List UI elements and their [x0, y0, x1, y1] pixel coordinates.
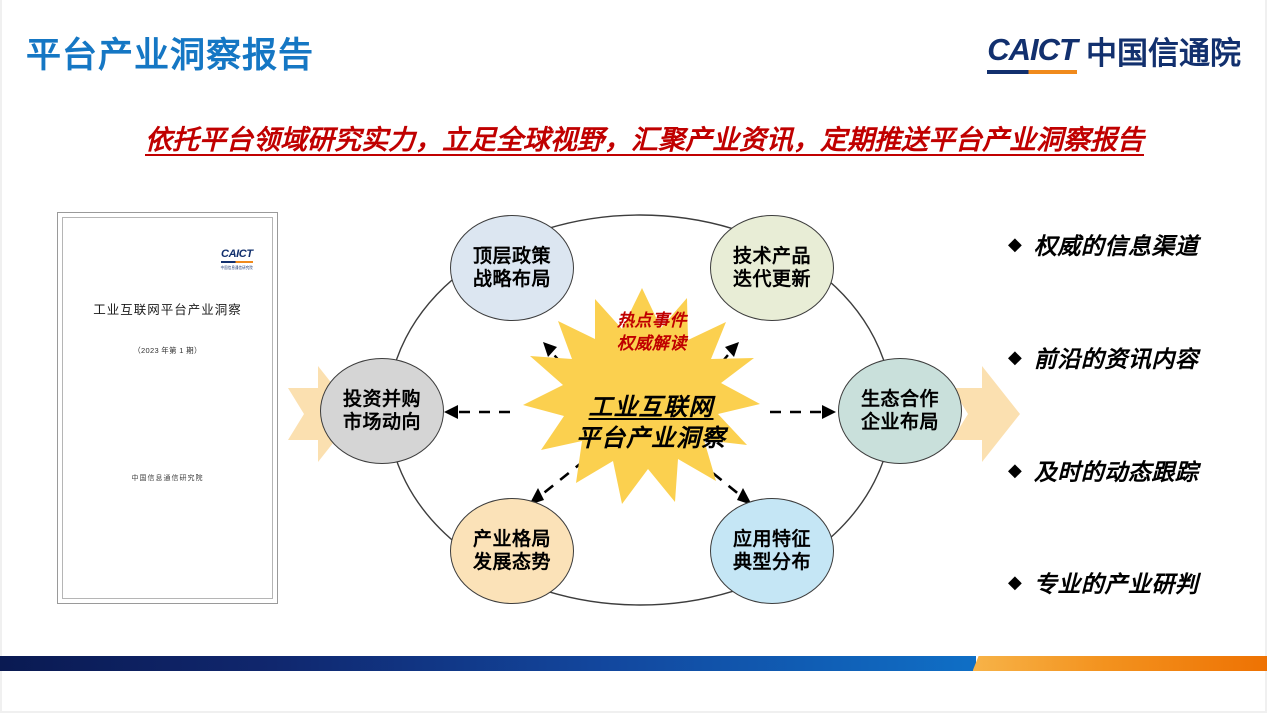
benefit-item-2: ◆ 及时的动态跟踪 — [1008, 458, 1198, 482]
report-cover-title: 工业互联网平台产业洞察 — [63, 299, 272, 318]
insight-cycle-diagram: 顶层政策 战略布局 技术产品 迭代更新 投资并购 市场动向 生态合作 企业布局 … — [330, 200, 970, 620]
caict-logo-text: CAICT — [987, 32, 1077, 68]
report-cover-logo-bar — [221, 261, 253, 263]
node-policy[interactable]: 顶层政策 战略布局 — [450, 215, 574, 321]
report-cover-logo-text: CAICT — [221, 248, 253, 260]
benefit-item-3: ◆ 专业的产业研判 — [1008, 570, 1198, 594]
node-policy-line1: 顶层政策 — [473, 245, 551, 268]
footer-gradient-bar — [0, 656, 1267, 671]
node-ecosystem-line2: 企业布局 — [861, 411, 939, 434]
node-application-line2: 典型分布 — [733, 551, 811, 574]
benefit-item-2-label: 及时的动态跟踪 — [1034, 453, 1199, 487]
node-ecosystem-line1: 生态合作 — [861, 388, 939, 411]
caict-logo-mark: CAICT — [987, 32, 1077, 75]
node-investment-line1: 投资并购 — [343, 388, 421, 411]
slide-canvas: 平台产业洞察报告 CAICT 中国信通院 依托平台领域研究实力，立足全球视野，汇… — [0, 0, 1267, 713]
hotspot-label-line1: 热点事件 — [582, 310, 722, 333]
diamond-bullet-icon: ◆ — [1008, 348, 1022, 366]
slide-left-edge — [0, 0, 2, 713]
node-application[interactable]: 应用特征 典型分布 — [710, 498, 834, 604]
node-market-structure[interactable]: 产业格局 发展态势 — [450, 498, 574, 604]
diagram-center-line1: 工业互联网 — [512, 392, 790, 423]
hotspot-label-line2: 权威解读 — [582, 333, 722, 356]
page-title: 平台产业洞察报告 — [26, 27, 314, 78]
diamond-bullet-icon: ◆ — [1008, 461, 1022, 479]
node-market-structure-line1: 产业格局 — [473, 528, 551, 551]
node-ecosystem[interactable]: 生态合作 企业布局 — [838, 358, 962, 464]
report-cover-issue: （2023 年第 1 期） — [63, 345, 272, 356]
report-cover-thumbnail: CAICT 中国信息通信研究院 工业互联网平台产业洞察 （2023 年第 1 期… — [57, 212, 278, 604]
arrowhead-right — [822, 405, 836, 419]
node-market-structure-line2: 发展态势 — [473, 551, 551, 574]
node-policy-line2: 战略布局 — [473, 268, 551, 291]
arrowhead-top-left — [543, 342, 557, 357]
report-cover-logo-sub: 中国信息通信研究院 — [221, 265, 253, 271]
footer-bar-orange-segment — [973, 656, 1267, 671]
diagram-center-label: 工业互联网 平台产业洞察 — [512, 392, 790, 453]
node-investment-line2: 市场动向 — [343, 411, 421, 434]
node-tech-line2: 迭代更新 — [733, 268, 811, 291]
footer-bar-blue-segment — [0, 656, 976, 671]
caict-logo-chinese: 中国信通院 — [1086, 38, 1241, 75]
benefit-item-0-label: 权威的信息渠道 — [1034, 227, 1199, 261]
node-tech-line1: 技术产品 — [733, 245, 811, 268]
caict-logo: CAICT 中国信通院 — [987, 32, 1241, 75]
report-cover-org: 中国信息通信研究院 — [63, 473, 272, 483]
diamond-bullet-icon: ◆ — [1008, 573, 1022, 591]
node-investment[interactable]: 投资并购 市场动向 — [320, 358, 444, 464]
report-cover-page: CAICT 中国信息通信研究院 工业互联网平台产业洞察 （2023 年第 1 期… — [62, 217, 273, 599]
benefit-item-1-label: 前沿的资讯内容 — [1034, 340, 1199, 374]
node-application-line1: 应用特征 — [733, 528, 811, 551]
caict-logo-underline-bar — [987, 70, 1077, 74]
benefit-item-0: ◆ 权威的信息渠道 — [1008, 232, 1198, 256]
hotspot-label: 热点事件 权威解读 — [582, 310, 722, 356]
benefit-item-3-label: 专业的产业研判 — [1034, 565, 1199, 599]
benefit-item-1: ◆ 前沿的资讯内容 — [1008, 345, 1198, 369]
node-tech[interactable]: 技术产品 迭代更新 — [710, 215, 834, 321]
arrowhead-left — [444, 405, 458, 419]
slogan-text: 依托平台领域研究实力，立足全球视野，汇聚产业资讯，定期推送平台产业洞察报告 — [145, 118, 1144, 157]
diamond-bullet-icon: ◆ — [1008, 235, 1022, 253]
diagram-center-line2: 平台产业洞察 — [512, 423, 790, 454]
report-cover-logo: CAICT 中国信息通信研究院 — [221, 248, 253, 270]
